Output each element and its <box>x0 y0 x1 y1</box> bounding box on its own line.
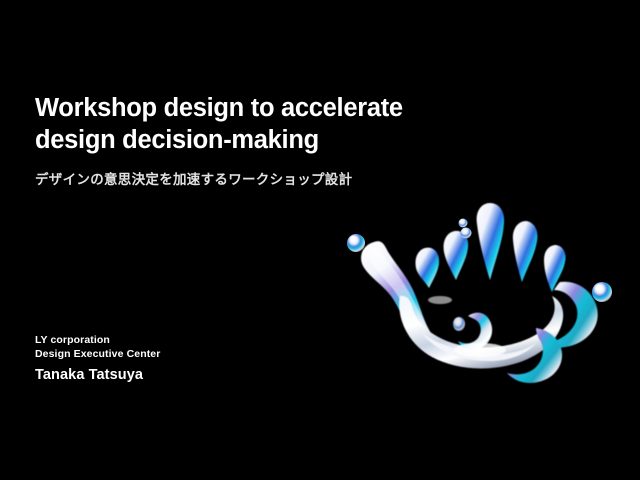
splash-crown <box>361 203 598 383</box>
presenter-byline: LY corporation Design Executive Center T… <box>35 333 160 385</box>
sphere-left-icon <box>347 234 365 252</box>
splash-spike-1 <box>415 248 439 288</box>
byline-department: Design Executive Center <box>35 347 160 361</box>
slide-text-block: Workshop design to accelerate design dec… <box>35 92 465 190</box>
droplet-top-small-icon <box>459 219 468 228</box>
chrome-liquid-splash-artwork <box>330 200 640 420</box>
sphere-right-icon <box>592 282 612 302</box>
specular-highlight-bowl <box>454 343 506 357</box>
splash-spike-4 <box>513 221 538 282</box>
slide-subtitle: デザインの意思決定を加速するワークショップ設計 <box>35 156 465 190</box>
byline-presenter-name: Tanaka Tatsuya <box>35 361 160 385</box>
splash-spike-3 <box>477 203 504 280</box>
droplet-top-tiny-icon <box>461 228 472 239</box>
splash-rim-bead <box>453 317 465 331</box>
presentation-slide: Workshop design to accelerate design dec… <box>0 0 640 480</box>
slide-title: Workshop design to accelerate design dec… <box>35 92 465 156</box>
byline-organization: LY corporation <box>35 333 160 347</box>
sphere-right-highlight <box>596 285 603 292</box>
specular-highlight-rim <box>428 296 452 304</box>
sphere-left-highlight <box>350 236 356 242</box>
